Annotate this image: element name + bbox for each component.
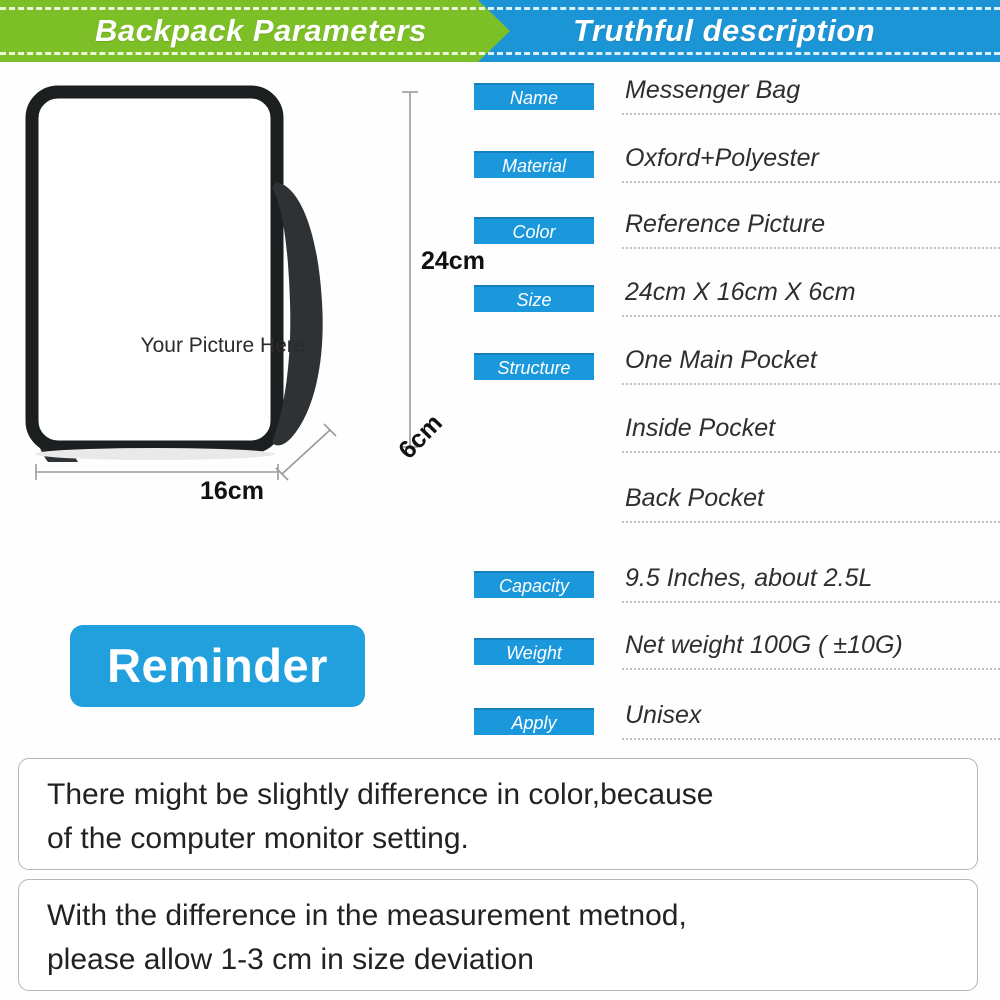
spec-row: NameMessenger Bag (470, 80, 1000, 120)
spec-value: Inside Pocket (625, 414, 1000, 443)
spec-label-chip: Color (474, 217, 594, 244)
spec-dotted-rule (622, 247, 1000, 249)
note-line: of the computer monitor setting. (47, 817, 949, 861)
spec-row: StructureOne Main Pocket (470, 350, 1000, 390)
picture-placeholder-text: Your Picture Here (108, 334, 338, 358)
spec-row: WeightNet weight 100G ( ±10G) (470, 635, 1000, 675)
spec-value: Oxford+Polyester (625, 144, 1000, 173)
spec-dotted-rule (622, 181, 1000, 183)
dimension-label-width: 16cm (200, 477, 264, 506)
spec-dotted-rule (622, 738, 1000, 740)
spec-label-chip: Weight (474, 638, 594, 665)
spec-row: MaterialOxford+Polyester (470, 148, 1000, 188)
header-banner: Backpack Parameters Truthful description (0, 0, 1000, 62)
spec-label-chip: Structure (474, 353, 594, 380)
spec-label-chip: Apply (474, 708, 594, 735)
note-box-measurement-disclaimer: With the difference in the measurement m… (18, 879, 978, 991)
spec-value: Back Pocket (625, 484, 1000, 513)
spec-row: Back Pocket (470, 488, 1000, 528)
spec-dotted-rule (622, 668, 1000, 670)
spec-value: Unisex (625, 701, 1000, 730)
spec-value: 24cm X 16cm X 6cm (625, 278, 1000, 307)
note-line: please allow 1-3 cm in size deviation (47, 938, 949, 982)
spec-dotted-rule (622, 113, 1000, 115)
bag-body-panel (32, 92, 277, 447)
spec-dotted-rule (622, 451, 1000, 453)
reminder-badge: Reminder (70, 625, 365, 707)
bag-shadow (35, 448, 275, 460)
spec-label-chip: Name (474, 83, 594, 110)
spec-row: Inside Pocket (470, 418, 1000, 458)
spec-label-chip: Size (474, 285, 594, 312)
spec-value: One Main Pocket (625, 346, 1000, 375)
note-line: There might be slightly difference in co… (47, 773, 949, 817)
header-left-title: Backpack Parameters (95, 0, 427, 62)
spec-row: ColorReference Picture (470, 214, 1000, 254)
spec-dotted-rule (622, 383, 1000, 385)
spec-dotted-rule (622, 601, 1000, 603)
spec-row: ApplyUnisex (470, 705, 1000, 745)
spec-row: Capacity9.5 Inches, about 2.5L (470, 568, 1000, 608)
height-measure-line (402, 92, 418, 447)
spec-value: Reference Picture (625, 210, 1000, 239)
spec-value: Net weight 100G ( ±10G) (625, 631, 1000, 660)
spec-dotted-rule (622, 521, 1000, 523)
note-box-color-disclaimer: There might be slightly difference in co… (18, 758, 978, 870)
spec-dotted-rule (622, 315, 1000, 317)
spec-value: Messenger Bag (625, 76, 1000, 105)
spec-label-chip: Material (474, 151, 594, 178)
spec-label-chip: Capacity (474, 571, 594, 598)
note-line: With the difference in the measurement m… (47, 894, 949, 938)
spec-row: Size24cm X 16cm X 6cm (470, 282, 1000, 322)
header-right-title: Truthful description (573, 0, 875, 62)
spec-value: 9.5 Inches, about 2.5L (625, 564, 1000, 593)
